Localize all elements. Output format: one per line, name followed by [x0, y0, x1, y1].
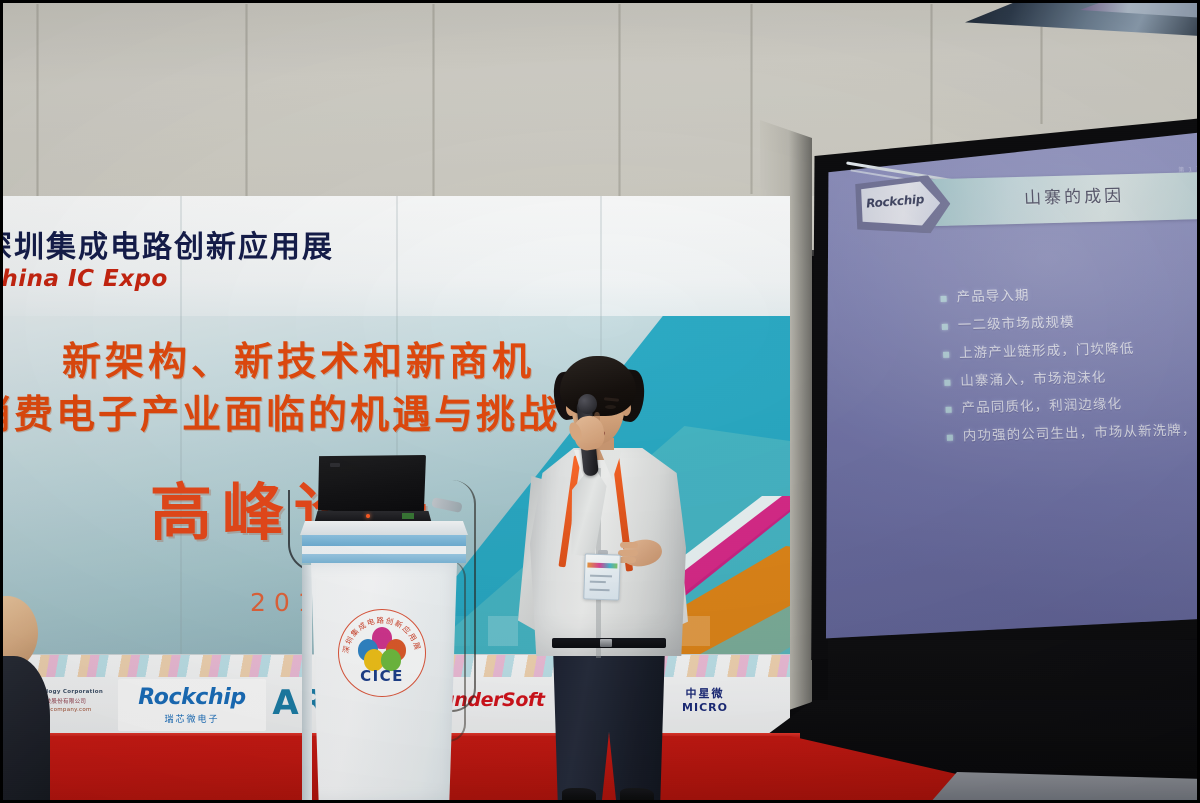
badge-text-line: [590, 589, 610, 592]
list-item: 山寨涌入，市场泡沫化: [944, 367, 1200, 389]
badge-text-line: [590, 581, 606, 584]
sponsor-logo-rockchip: Rockchip 瑞芯微电子: [118, 679, 266, 731]
conference-badge: [583, 553, 621, 600]
presenter-finger: [620, 542, 638, 548]
bullet-text: 上游产业链形成，门坎降低: [959, 342, 1135, 361]
list-item: 一二级市场成规模: [942, 311, 1200, 333]
stage-red-carpet: [0, 736, 980, 803]
bullet-text: 一二级市场成规模: [958, 315, 1075, 333]
sponsor-name: Rockchip: [122, 685, 262, 710]
presenter-belt-buckle: [600, 639, 612, 647]
presenter-finger: [618, 550, 638, 556]
slide-page-mark: 第 1 页: [1178, 164, 1200, 174]
podium-left-edge: [302, 565, 312, 801]
banner-headline-line-1: 新架构、新技术和新商机: [62, 331, 535, 387]
badge-color-strip: [587, 562, 617, 568]
podium-top-surface: [300, 521, 468, 535]
bullet-text: 山寨涌入，市场泡沫化: [960, 370, 1107, 389]
bullet-square-icon: [940, 296, 946, 302]
laptop-brand-badge: [330, 463, 340, 467]
presentation-slide: 山寨的成因 Rockchip 第 1 页 产品导入期 一二级市场成规模 上游产业…: [824, 146, 1200, 626]
podium-blue-band: [302, 535, 466, 546]
presenter-eye-right: [605, 405, 616, 409]
bullet-text: 内功强的公司生出，市场从新洗牌，: [963, 424, 1197, 445]
laptop-power-led-icon: [366, 514, 370, 518]
bullet-square-icon: [942, 324, 948, 330]
laptop-connector: [402, 513, 414, 519]
presenter-trousers: [548, 642, 670, 803]
sponsor-subtitle: 瑞芯微电子: [122, 712, 262, 725]
badge-text-line: [590, 575, 612, 578]
cice-logo: 深圳集成电路创新应用展 CICE: [338, 609, 426, 697]
laptop-screen-lid: [318, 455, 426, 513]
slide-bullet-list: 产品导入期 一二级市场成规模 上游产业链形成，门坎降低 山寨涌入，市场泡沫化 产…: [940, 283, 1200, 457]
bullet-text: 产品导入期: [956, 289, 1030, 306]
bullet-square-icon: [944, 379, 950, 385]
presenter-finger: [618, 557, 636, 563]
bullet-text: 产品同质化，利润边缘化: [961, 398, 1122, 417]
wall-seam: [750, 4, 753, 194]
list-item: 内功强的公司生出，市场从新洗牌，: [947, 422, 1200, 444]
bullet-square-icon: [946, 407, 952, 413]
banner-chinese-title: 深圳集成电路创新应用展: [0, 222, 334, 266]
speaker-podium: 深圳集成电路创新应用展 CICE: [300, 521, 468, 803]
banner-headline-line-2: 消费电子产业面临的机遇与挑战: [0, 384, 560, 440]
podium-white-band: [302, 546, 466, 554]
conference-photo: 山寨的成因 Rockchip 第 1 页 产品导入期 一二级市场成规模 上游产业…: [0, 0, 1200, 803]
projection-screen: 山寨的成因 Rockchip 第 1 页 产品导入期 一二级市场成规模 上游产业…: [794, 118, 1200, 660]
podium-blue-band-2: [302, 554, 466, 563]
list-item: 产品导入期: [940, 283, 1200, 305]
presenter-person: [508, 356, 708, 803]
cice-logo-label: CICE: [338, 667, 426, 685]
presenter-laptop: [314, 455, 432, 527]
presenter-shoe-left: [562, 788, 596, 803]
presenter-shirt: [530, 448, 686, 656]
bullet-square-icon: [943, 351, 949, 357]
presenter-hair: [560, 356, 636, 416]
banner-english-title: China IC Expo: [0, 266, 168, 292]
cice-flower-icon: [358, 627, 406, 669]
presenter-shoe-right: [620, 788, 654, 803]
list-item: 产品同质化，利润边缘化: [945, 395, 1200, 417]
bullet-square-icon: [947, 435, 953, 441]
list-item: 上游产业链形成，门坎降低: [943, 339, 1200, 361]
